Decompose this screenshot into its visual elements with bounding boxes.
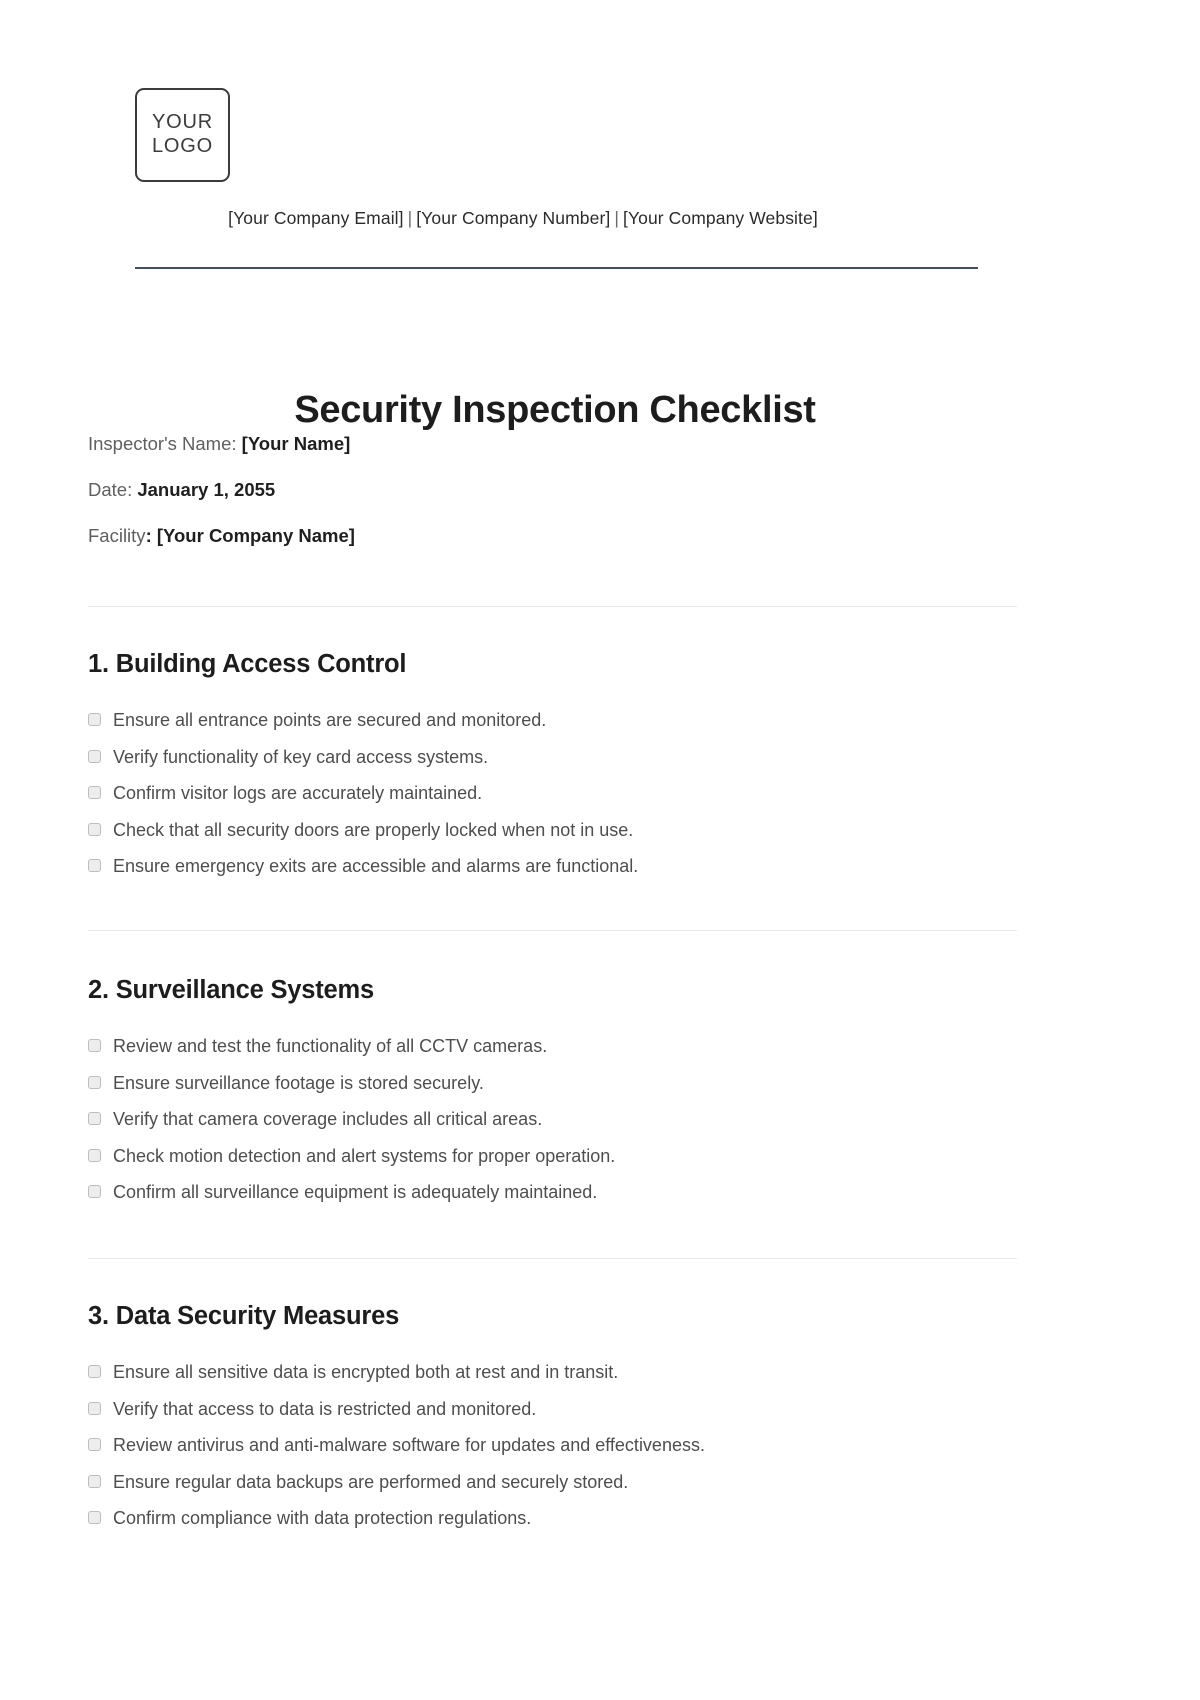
checklist-item-label: Ensure regular data backups are performe… bbox=[113, 1471, 628, 1494]
section-surveillance-systems: 2. Surveillance Systems Review and test … bbox=[88, 976, 1048, 1218]
company-email[interactable]: [Your Company Email] bbox=[228, 208, 403, 228]
checklist-item-label: Ensure surveillance footage is stored se… bbox=[113, 1072, 484, 1095]
logo-text-line-2: LOGO bbox=[152, 135, 213, 159]
contact-separator-2: | bbox=[610, 208, 623, 228]
meta-row-facility: Facility: [Your Company Name] bbox=[88, 524, 1048, 547]
document-header: YOUR LOGO [Your Company Email]|[Your Com… bbox=[0, 0, 1200, 290]
checklist-item-label: Confirm compliance with data protection … bbox=[113, 1507, 531, 1530]
meta-value-inspector-name[interactable]: [Your Name] bbox=[242, 433, 351, 454]
checklist-item-label: Verify functionality of key card access … bbox=[113, 746, 488, 769]
checklist-item[interactable]: Review and test the functionality of all… bbox=[88, 1035, 1048, 1058]
checklist-item-label: Ensure emergency exits are accessible an… bbox=[113, 855, 638, 878]
checklist-item-label: Review and test the functionality of all… bbox=[113, 1035, 547, 1058]
page-title: Security Inspection Checklist bbox=[0, 389, 1110, 432]
checklist-item-label: Confirm all surveillance equipment is ad… bbox=[113, 1181, 597, 1204]
section-heading: 3. Data Security Measures bbox=[88, 1302, 1048, 1331]
checkbox-icon[interactable] bbox=[88, 786, 101, 799]
checklist-item-label: Verify that camera coverage includes all… bbox=[113, 1108, 542, 1131]
checklist-item-label: Check that all security doors are proper… bbox=[113, 819, 633, 842]
checklist: Review and test the functionality of all… bbox=[88, 1035, 1048, 1204]
document-meta-block: Inspector's Name: [Your Name] Date: Janu… bbox=[88, 432, 1048, 570]
meta-row-inspector-name: Inspector's Name: [Your Name] bbox=[88, 432, 1048, 455]
checkbox-icon[interactable] bbox=[88, 1149, 101, 1162]
contact-separator-1: | bbox=[404, 208, 417, 228]
checkbox-icon[interactable] bbox=[88, 713, 101, 726]
company-contact-line: [Your Company Email]|[Your Company Numbe… bbox=[0, 208, 1046, 229]
checkbox-icon[interactable] bbox=[88, 859, 101, 872]
checklist-item[interactable]: Confirm all surveillance equipment is ad… bbox=[88, 1181, 1048, 1204]
checklist-item-label: Review antivirus and anti-malware softwa… bbox=[113, 1434, 705, 1457]
company-number[interactable]: [Your Company Number] bbox=[416, 208, 610, 228]
checkbox-icon[interactable] bbox=[88, 1039, 101, 1052]
checklist-item[interactable]: Verify functionality of key card access … bbox=[88, 746, 1048, 769]
checklist-item-label: Check motion detection and alert systems… bbox=[113, 1145, 615, 1168]
logo-text-line-1: YOUR bbox=[152, 111, 213, 135]
checkbox-icon[interactable] bbox=[88, 1475, 101, 1488]
checklist-item[interactable]: Ensure all sensitive data is encrypted b… bbox=[88, 1361, 1048, 1384]
checklist-item[interactable]: Confirm compliance with data protection … bbox=[88, 1507, 1048, 1530]
section-heading: 1. Building Access Control bbox=[88, 650, 1048, 679]
company-logo-placeholder[interactable]: YOUR LOGO bbox=[135, 88, 230, 182]
section-data-security-measures: 3. Data Security Measures Ensure all sen… bbox=[88, 1302, 1048, 1544]
section-divider-3 bbox=[88, 1258, 1017, 1259]
checklist-item-label: Ensure all sensitive data is encrypted b… bbox=[113, 1361, 618, 1384]
checkbox-icon[interactable] bbox=[88, 823, 101, 836]
section-divider-1 bbox=[88, 606, 1017, 607]
checklist-item-label: Verify that access to data is restricted… bbox=[113, 1398, 536, 1421]
company-website[interactable]: [Your Company Website] bbox=[623, 208, 818, 228]
checklist-item-label: Confirm visitor logs are accurately main… bbox=[113, 782, 482, 805]
checkbox-icon[interactable] bbox=[88, 1185, 101, 1198]
section-divider-2 bbox=[88, 930, 1017, 931]
header-divider-rule bbox=[135, 267, 978, 269]
checklist-item[interactable]: Review antivirus and anti-malware softwa… bbox=[88, 1434, 1048, 1457]
checklist-item-label: Ensure all entrance points are secured a… bbox=[113, 709, 546, 732]
checklist-item[interactable]: Ensure emergency exits are accessible an… bbox=[88, 855, 1048, 878]
checklist-item[interactable]: Ensure regular data backups are performe… bbox=[88, 1471, 1048, 1494]
checkbox-icon[interactable] bbox=[88, 1511, 101, 1524]
section-building-access-control: 1. Building Access Control Ensure all en… bbox=[88, 650, 1048, 892]
checklist-item[interactable]: Check that all security doors are proper… bbox=[88, 819, 1048, 842]
checklist-item[interactable]: Check motion detection and alert systems… bbox=[88, 1145, 1048, 1168]
checkbox-icon[interactable] bbox=[88, 1402, 101, 1415]
meta-value-date[interactable]: January 1, 2055 bbox=[137, 479, 275, 500]
checklist: Ensure all entrance points are secured a… bbox=[88, 709, 1048, 878]
checkbox-icon[interactable] bbox=[88, 1365, 101, 1378]
checkbox-icon[interactable] bbox=[88, 1076, 101, 1089]
section-heading: 2. Surveillance Systems bbox=[88, 976, 1048, 1005]
checklist-item[interactable]: Verify that access to data is restricted… bbox=[88, 1398, 1048, 1421]
checklist-item[interactable]: Confirm visitor logs are accurately main… bbox=[88, 782, 1048, 805]
document-page: YOUR LOGO [Your Company Email]|[Your Com… bbox=[0, 0, 1200, 1700]
checklist-item[interactable]: Ensure surveillance footage is stored se… bbox=[88, 1072, 1048, 1095]
checklist: Ensure all sensitive data is encrypted b… bbox=[88, 1361, 1048, 1530]
checklist-item[interactable]: Ensure all entrance points are secured a… bbox=[88, 709, 1048, 732]
meta-value-facility[interactable]: [Your Company Name] bbox=[157, 525, 355, 546]
meta-label-date: Date: bbox=[88, 479, 137, 500]
checkbox-icon[interactable] bbox=[88, 750, 101, 763]
meta-label-facility-suffix: : bbox=[146, 525, 157, 546]
checklist-item[interactable]: Verify that camera coverage includes all… bbox=[88, 1108, 1048, 1131]
checkbox-icon[interactable] bbox=[88, 1112, 101, 1125]
checkbox-icon[interactable] bbox=[88, 1438, 101, 1451]
meta-row-date: Date: January 1, 2055 bbox=[88, 478, 1048, 501]
meta-label-facility: Facility bbox=[88, 525, 146, 546]
meta-label-inspector-name: Inspector's Name: bbox=[88, 433, 242, 454]
